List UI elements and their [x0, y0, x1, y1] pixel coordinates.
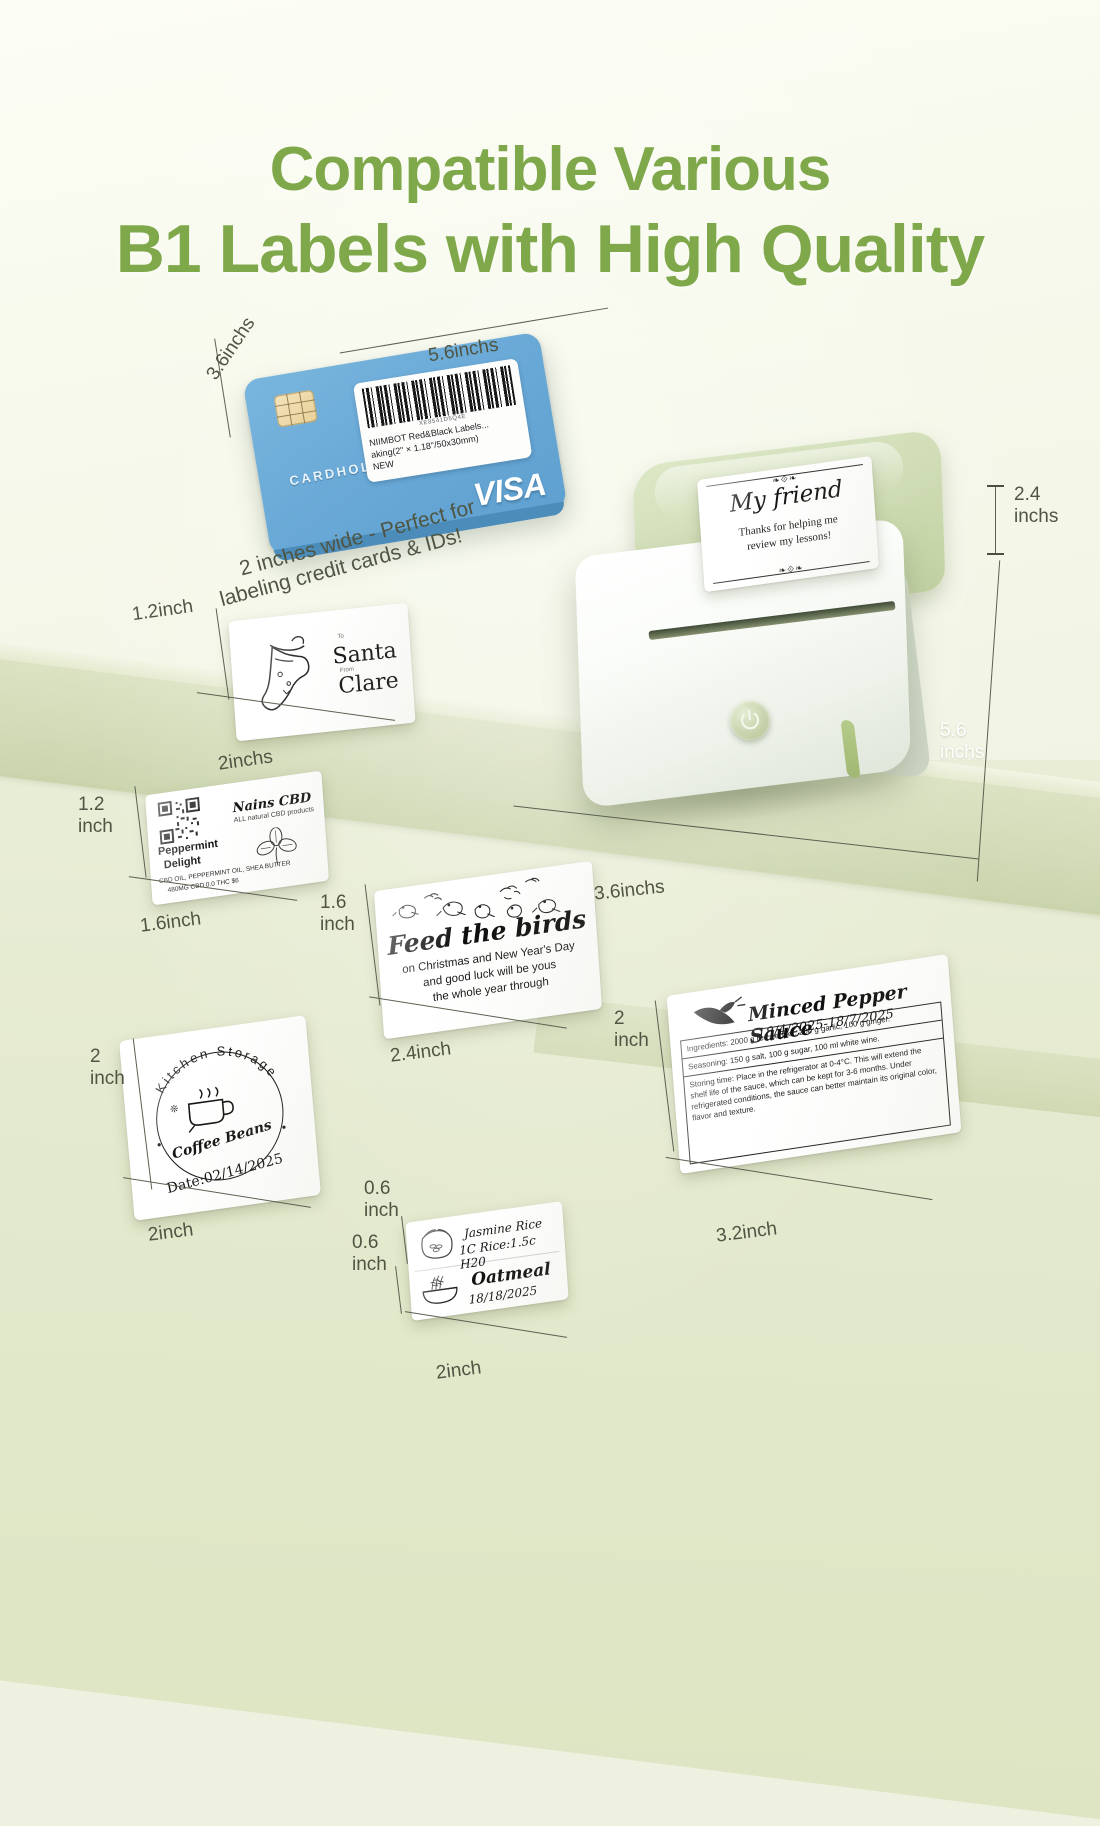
power-icon [739, 708, 762, 732]
dim-printer-side: 5.6 inchs [940, 720, 984, 764]
qr-code-icon [158, 797, 203, 845]
dim-rice-height-2: 0.6 inch [352, 1232, 387, 1276]
label-feed-the-birds: Feed the birds on Christmas and New Year… [374, 861, 602, 1040]
cbd-product-line-2: Delight [163, 854, 201, 871]
dim-printer-top: 2.4 inchs [1014, 484, 1058, 528]
dim-cap-a [987, 485, 1004, 487]
label-coffee-beans: Kitchen Storage ❊ Coffee Beans Date:02/1… [119, 1015, 321, 1221]
dim-cbd-height: 1.2 inch [78, 794, 113, 838]
emv-chip-icon [273, 389, 318, 427]
santa-name-line-1: Santa [332, 638, 398, 670]
headline-line-1: Compatible Various [0, 132, 1100, 208]
oat-bowl-icon [419, 1271, 461, 1309]
page-title: Compatible Various B1 Labels with High Q… [0, 132, 1100, 290]
coffee-bean-decor-icon: ❊ [170, 1104, 179, 1116]
santa-to-label: To [337, 633, 344, 640]
rice-bag-icon [416, 1224, 458, 1264]
sticker-line-3: NEW [372, 459, 394, 472]
dim-birds-height: 1.6 inch [320, 892, 355, 936]
chili-pepper-icon [689, 994, 749, 1037]
mint-leaf-icon [253, 825, 299, 871]
dim-coffee-height: 2 inch [90, 1046, 125, 1090]
label-santa-clare: To From Santa Clare [228, 603, 415, 742]
barcode-label-sticker: XE8541D5Q4E NIIMBOT Red&Black Labels... … [353, 358, 533, 483]
santa-name-line-2: Clare [338, 668, 400, 699]
dim-sauce-height: 2 inch [614, 1008, 649, 1052]
dim-cap-b [987, 553, 1004, 555]
headline-line-2: B1 Labels with High Quality [0, 208, 1100, 290]
dim-line-printer-top [995, 486, 996, 554]
dim-rice-height-1: 0.6 inch [364, 1178, 399, 1222]
